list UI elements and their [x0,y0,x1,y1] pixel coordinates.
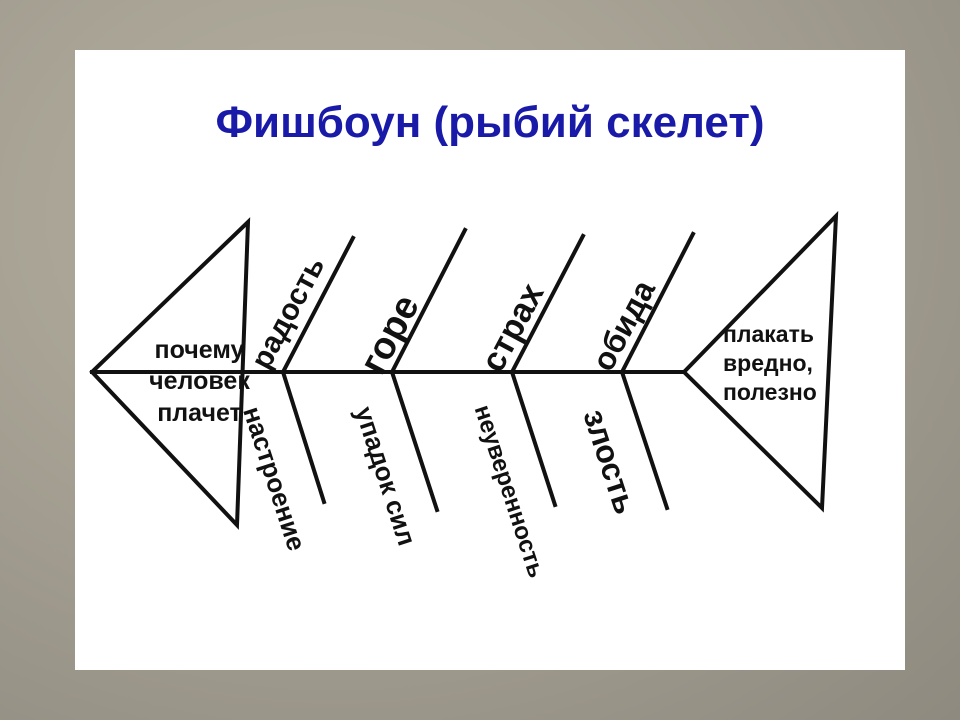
tail-line-3: полезно [723,378,883,407]
tail-line-1: плакать [723,320,883,349]
conclusion-tail-text: плакать вредно, полезно [723,320,883,406]
tail-line-2: вредно, [723,349,883,378]
head-line-2: человек [127,366,272,397]
slide-stage: Фишбоун (рыбий скелет) [0,0,960,720]
slide-canvas: Фишбоун (рыбий скелет) [75,50,905,670]
